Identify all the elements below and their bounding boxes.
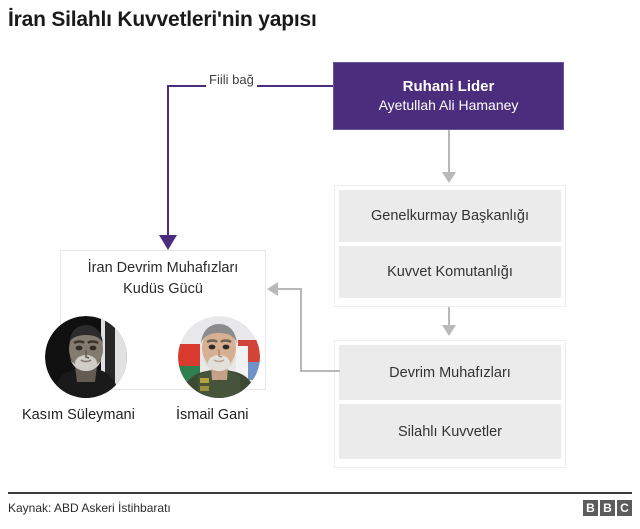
leader-to-quds-connector-vertical [167,85,169,237]
branch1-to-branch2-arrow-icon [442,325,456,336]
quds-force-label-line2: Kudüs Gücü [62,279,264,300]
leader-to-branch1-line [448,130,450,172]
footer-divider [8,492,632,494]
guards-to-quds-connector-top [278,288,302,290]
supreme-leader-role: Ruhani Lider [403,77,495,96]
infographic-canvas: İran Silahlı Kuvvetleri'nin yapısı Fiili… [0,0,640,529]
node-genelkurmay-baskanligi[interactable]: Genelkurmay Başkanlığı [339,190,561,242]
bbc-logo: B B C [583,500,632,516]
branch-group-revolutionary-guards: Devrim Muhafızları Silahlı Kuvvetler [334,340,566,468]
node-kuvvet-komutanligi[interactable]: Kuvvet Komutanlığı [339,246,561,298]
connector-label-fiili-bag: Fiili bağ [206,71,257,88]
supreme-leader-name: Ayetullah Ali Hamaney [379,96,519,115]
quds-force-label: İran Devrim Muhafızları Kudüs Gücü [62,258,264,300]
bbc-logo-letter-3: C [617,500,632,516]
guards-to-quds-arrow-icon [267,282,278,296]
avatar-ismail-gani-image [178,316,260,398]
quds-force-label-line1: İran Devrim Muhafızları [62,258,264,279]
branch1-to-branch2-line [448,307,450,325]
avatar-kasim-suleymani-image [45,316,127,398]
guards-to-quds-connector-bottom [300,370,340,372]
source-text: Kaynak: ABD Askeri İstihbaratı [8,500,171,516]
page-title: İran Silahlı Kuvvetleri'nin yapısı [8,7,608,33]
avatar-label-ismail-gani: İsmail Gani [176,405,249,425]
bbc-logo-letter-2: B [600,500,615,516]
avatar-kasim-suleymani [45,316,127,398]
guards-to-quds-connector-vertical [300,288,302,372]
leader-to-quds-arrow-icon [159,235,177,250]
node-supreme-leader[interactable]: Ruhani Lider Ayetullah Ali Hamaney [333,62,564,130]
node-devrim-muhafizlari[interactable]: Devrim Muhafızları [339,345,561,400]
bbc-logo-letter-1: B [583,500,598,516]
node-silahli-kuvvetler[interactable]: Silahlı Kuvvetler [339,404,561,459]
branch-group-armed-forces-command: Genelkurmay Başkanlığı Kuvvet Komutanlığ… [334,185,566,307]
avatar-ismail-gani [178,316,260,398]
avatar-label-kasim-suleymani: Kasım Süleymani [22,405,135,425]
leader-to-branch1-arrow-icon [442,172,456,183]
